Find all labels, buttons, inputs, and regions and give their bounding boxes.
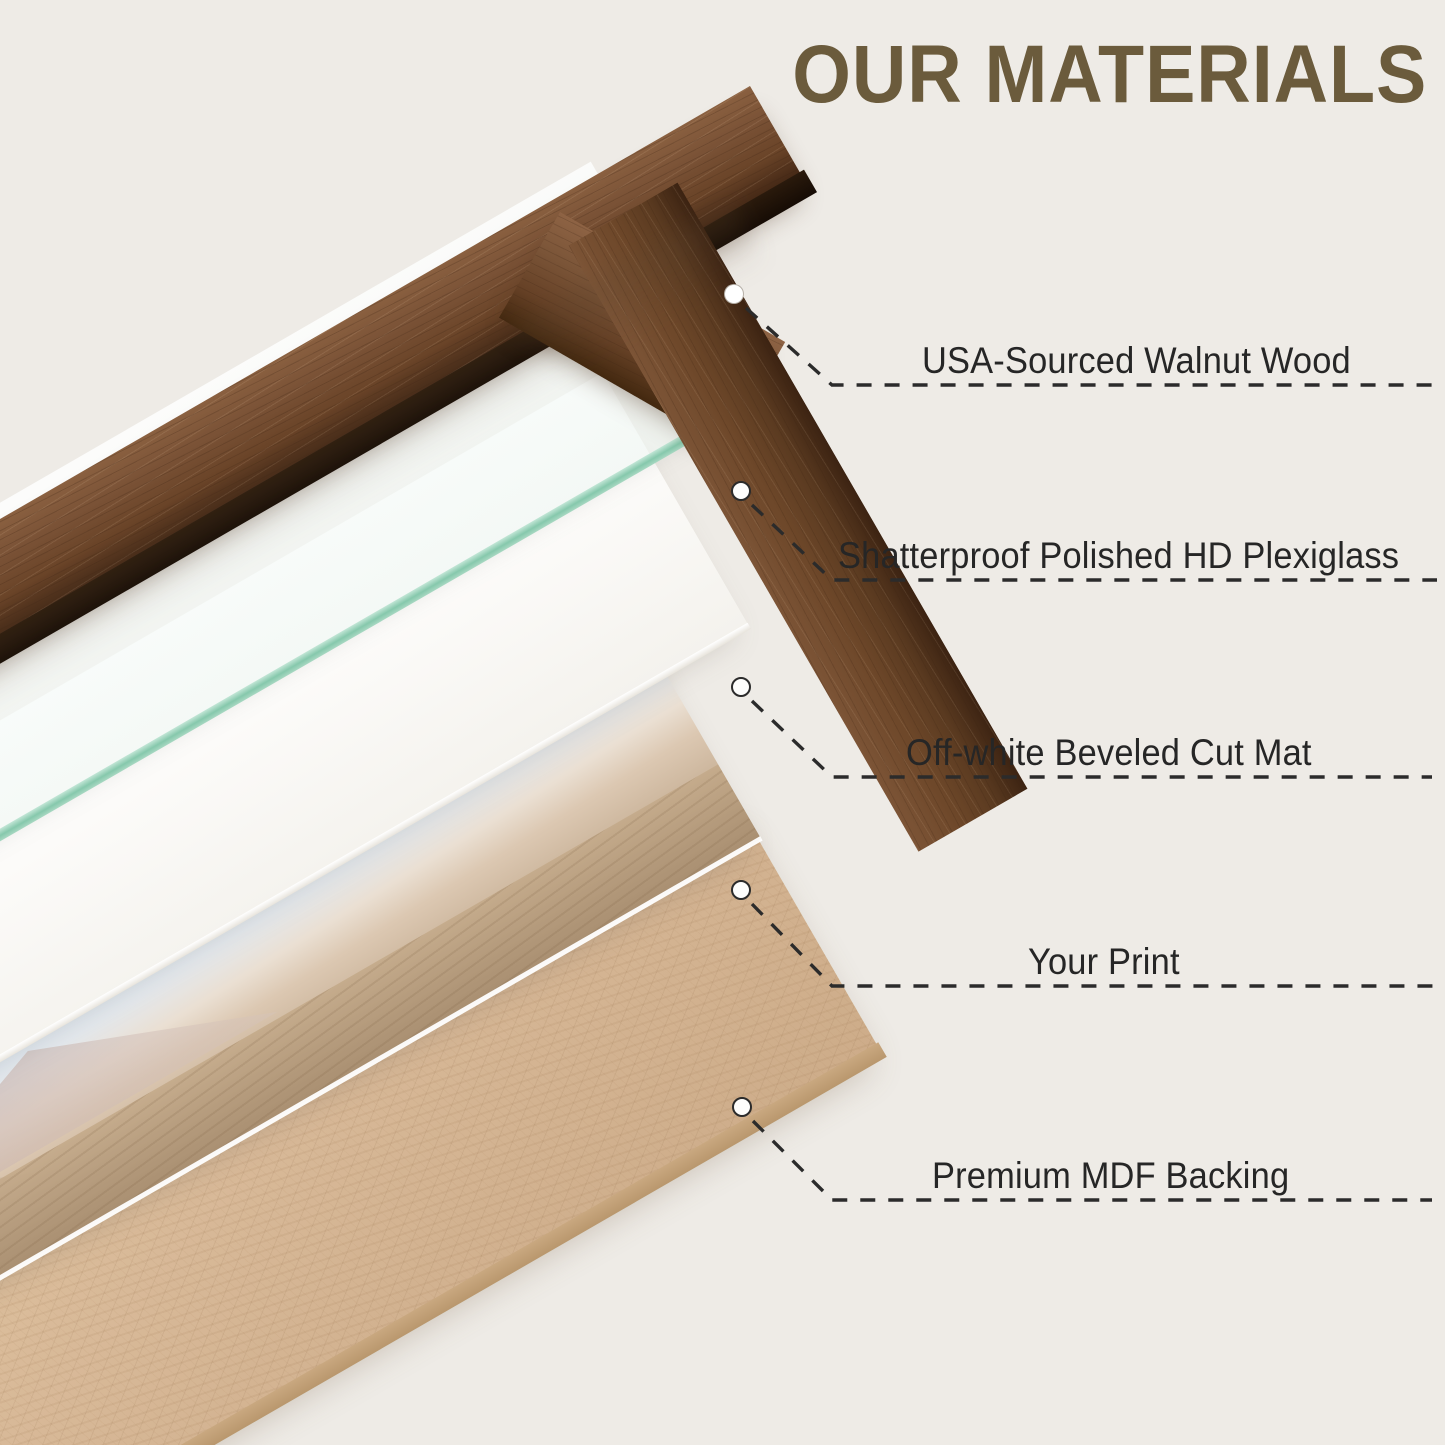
callout-label-plexiglass: Shatterproof Polished HD Plexiglass [838,535,1399,577]
callout-label-mdf-backing: Premium MDF Backing [932,1155,1289,1197]
callout-label-mat: Off-white Beveled Cut Mat [906,732,1312,774]
materials-infographic: OUR MATERIALS USA-Sourced Walnut Wood Sh… [0,0,1445,1445]
callout-labels: USA-Sourced Walnut Wood Shatterproof Pol… [0,0,1445,1445]
callout-label-walnut-wood: USA-Sourced Walnut Wood [922,340,1351,382]
callout-label-print: Your Print [1028,941,1180,983]
